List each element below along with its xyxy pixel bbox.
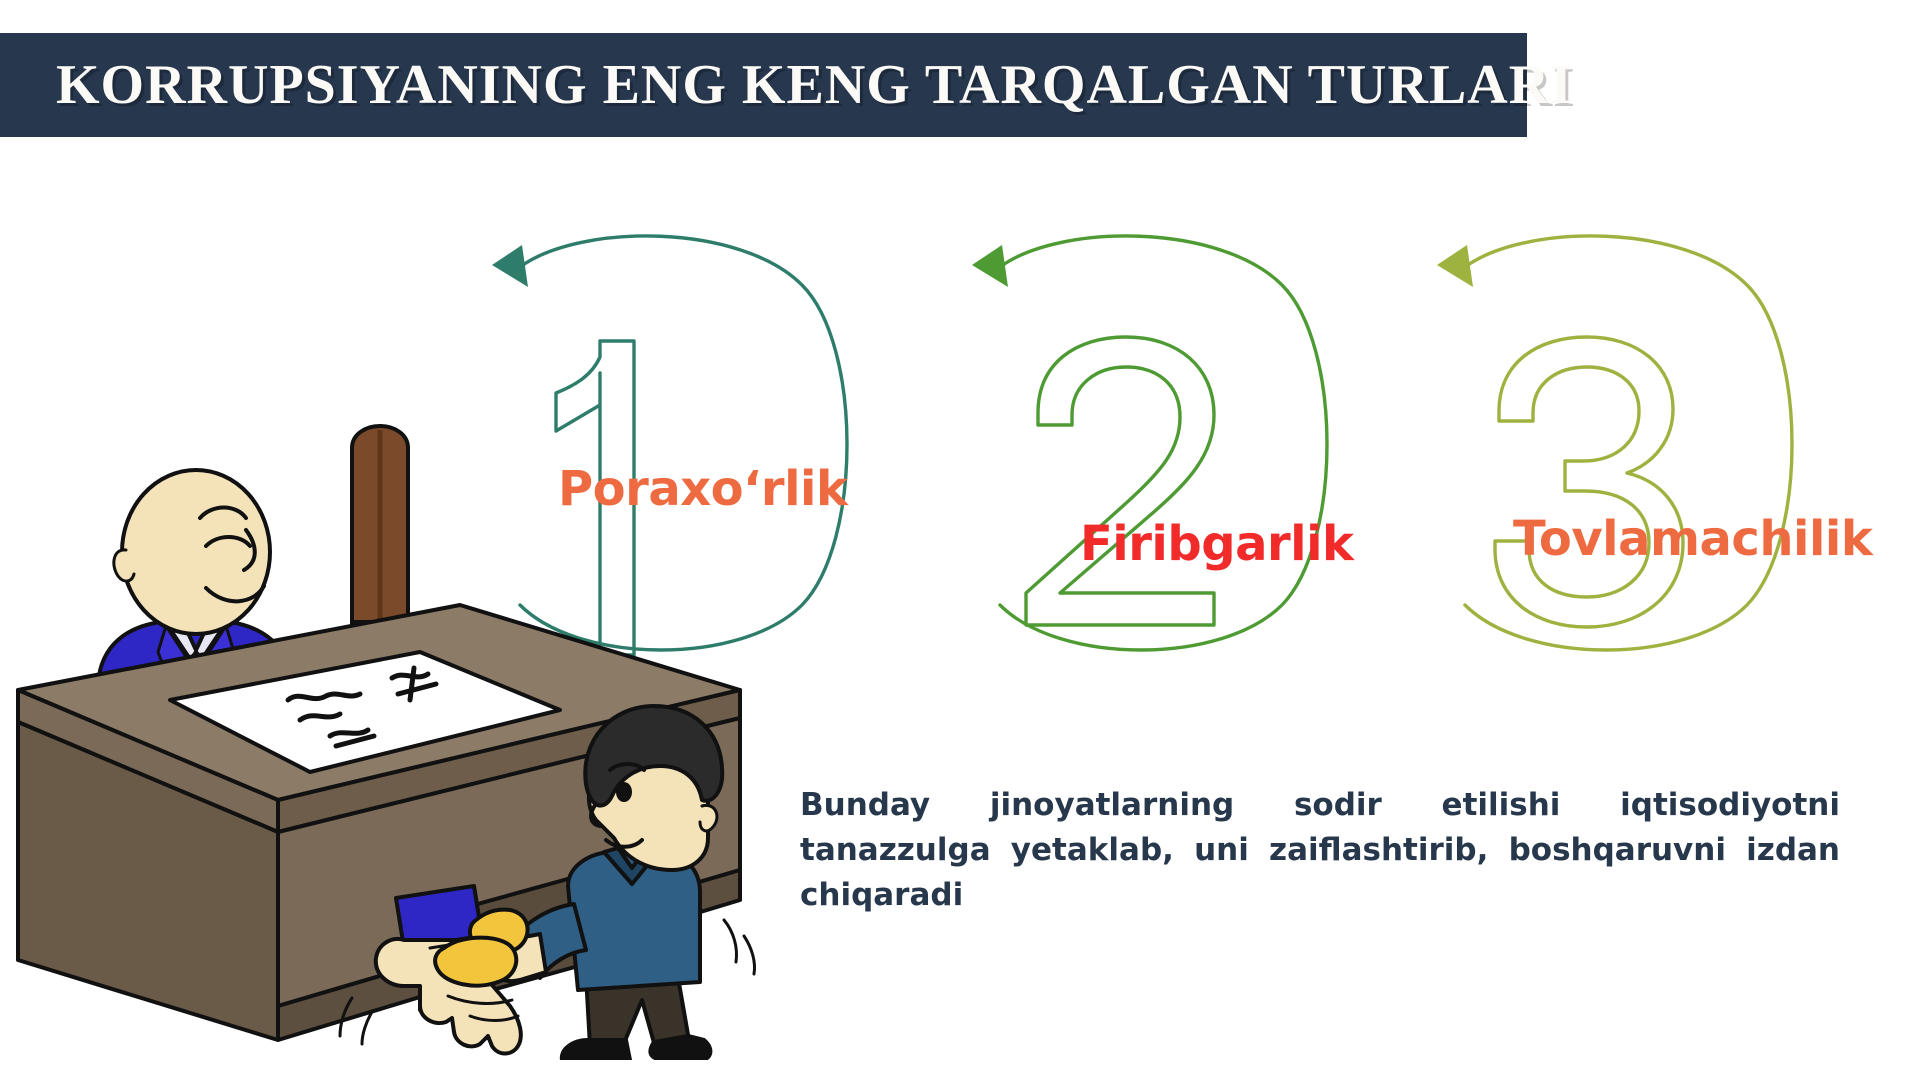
numeral-outline-2 bbox=[1026, 337, 1214, 625]
bribery-cartoon-svg bbox=[0, 400, 790, 1060]
numbered-item-2: Firibgarlik bbox=[930, 225, 1400, 655]
body-paragraph: Bunday jinoyatlarning sodir etilishi iqt… bbox=[800, 783, 1840, 918]
numbered-item-3: Tovlamachilik bbox=[1395, 225, 1865, 655]
circular-arrow-icon bbox=[972, 236, 1327, 650]
slide-canvas: KORRUPSIYANING ENG KENG TARQALGAN TURLAR… bbox=[0, 0, 1920, 1080]
circular-arrow-icon bbox=[1437, 236, 1792, 650]
numeral-outline-3 bbox=[1495, 337, 1683, 627]
page-title: KORRUPSIYANING ENG KENG TARQALGAN TURLAR… bbox=[56, 57, 1573, 113]
number-3-graphic bbox=[1395, 225, 1865, 655]
item-label-3: Tovlamachilik bbox=[1513, 515, 1872, 563]
bribery-illustration bbox=[0, 400, 790, 1060]
title-bar: KORRUPSIYANING ENG KENG TARQALGAN TURLAR… bbox=[0, 33, 1527, 137]
item-label-2: Firibgarlik bbox=[1080, 520, 1353, 568]
number-2-graphic bbox=[930, 225, 1400, 655]
